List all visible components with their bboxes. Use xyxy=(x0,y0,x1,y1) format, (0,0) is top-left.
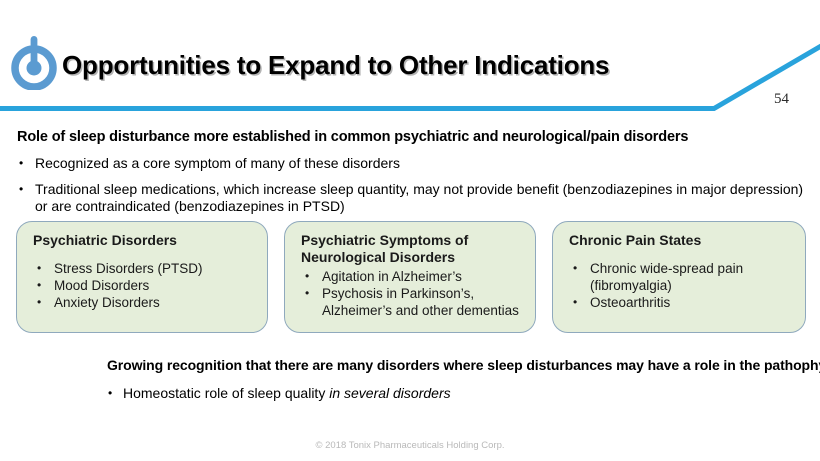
header-accent-diagonal xyxy=(700,40,820,112)
bottom-heading: Growing recognition that there are many … xyxy=(107,357,807,374)
slide-header: Opportunities to Expand to Other Indicat… xyxy=(0,0,820,118)
indication-card-group: Psychiatric Disorders • Stress Disorders… xyxy=(16,221,806,335)
bullet-icon: • xyxy=(301,268,322,285)
power-button-logo-icon xyxy=(8,32,60,90)
list-item-text-emphasis: in several disorders xyxy=(329,385,450,401)
card-title: Psychiatric Symptoms of Neurological Dis… xyxy=(301,232,525,266)
bullet-icon: • xyxy=(17,181,35,198)
bullet-icon: • xyxy=(17,155,35,172)
list-item: • Stress Disorders (PTSD) xyxy=(33,260,257,277)
intro-section: Role of sleep disturbance more establish… xyxy=(17,128,807,215)
footer-copyright: © 2018 Tonix Pharmaceuticals Holding Cor… xyxy=(0,440,820,451)
bullet-icon: • xyxy=(33,260,54,277)
bullet-icon: • xyxy=(33,277,54,294)
header-accent-rule xyxy=(0,106,712,111)
bullet-icon: • xyxy=(301,285,322,302)
list-item: • Anxiety Disorders xyxy=(33,294,257,311)
list-item: • Psychosis in Parkinson’s, Alzheimer’s … xyxy=(301,285,525,319)
intro-heading: Role of sleep disturbance more establish… xyxy=(17,128,807,146)
indication-card-psychiatric-disorders: Psychiatric Disorders • Stress Disorders… xyxy=(16,221,268,333)
list-item-text: Agitation in Alzheimer’s xyxy=(322,268,525,285)
list-item-text: Homeostatic role of sleep quality in sev… xyxy=(123,385,807,402)
bullet-icon: • xyxy=(33,294,54,311)
indication-card-neurological-disorders: Psychiatric Symptoms of Neurological Dis… xyxy=(284,221,536,333)
list-item-text: Recognized as a core symptom of many of … xyxy=(35,155,807,172)
bullet-icon: • xyxy=(569,294,590,311)
list-item: • Traditional sleep medications, which i… xyxy=(17,181,807,215)
page-title: Opportunities to Expand to Other Indicat… xyxy=(62,50,609,81)
list-item: • Agitation in Alzheimer’s xyxy=(301,268,525,285)
list-item: • Osteoarthritis xyxy=(569,294,795,311)
list-item-text: Traditional sleep medications, which inc… xyxy=(35,181,807,215)
list-item: • Recognized as a core symptom of many o… xyxy=(17,155,807,172)
list-item-text-lead: Homeostatic role of sleep quality xyxy=(123,385,329,401)
card-title: Chronic Pain States xyxy=(569,232,795,249)
list-item: • Chronic wide-spread pain (fibromyalgia… xyxy=(569,260,795,294)
bullet-icon: • xyxy=(107,385,123,402)
list-item-text: Stress Disorders (PTSD) xyxy=(54,260,257,277)
list-item: • Homeostatic role of sleep quality in s… xyxy=(107,385,807,402)
list-item: • Mood Disorders xyxy=(33,277,257,294)
slide-number: 54 xyxy=(774,91,789,108)
bottom-section: Growing recognition that there are many … xyxy=(107,357,807,402)
card-title: Psychiatric Disorders xyxy=(33,232,257,249)
list-item-text: Anxiety Disorders xyxy=(54,294,257,311)
indication-card-chronic-pain-states: Chronic Pain States • Chronic wide-sprea… xyxy=(552,221,806,333)
list-item-text: Psychosis in Parkinson’s, Alzheimer’s an… xyxy=(322,285,525,319)
bullet-icon: • xyxy=(569,260,590,277)
list-item-text: Chronic wide-spread pain (fibromyalgia) xyxy=(590,260,795,294)
list-item-text: Mood Disorders xyxy=(54,277,257,294)
list-item-text: Osteoarthritis xyxy=(590,294,795,311)
